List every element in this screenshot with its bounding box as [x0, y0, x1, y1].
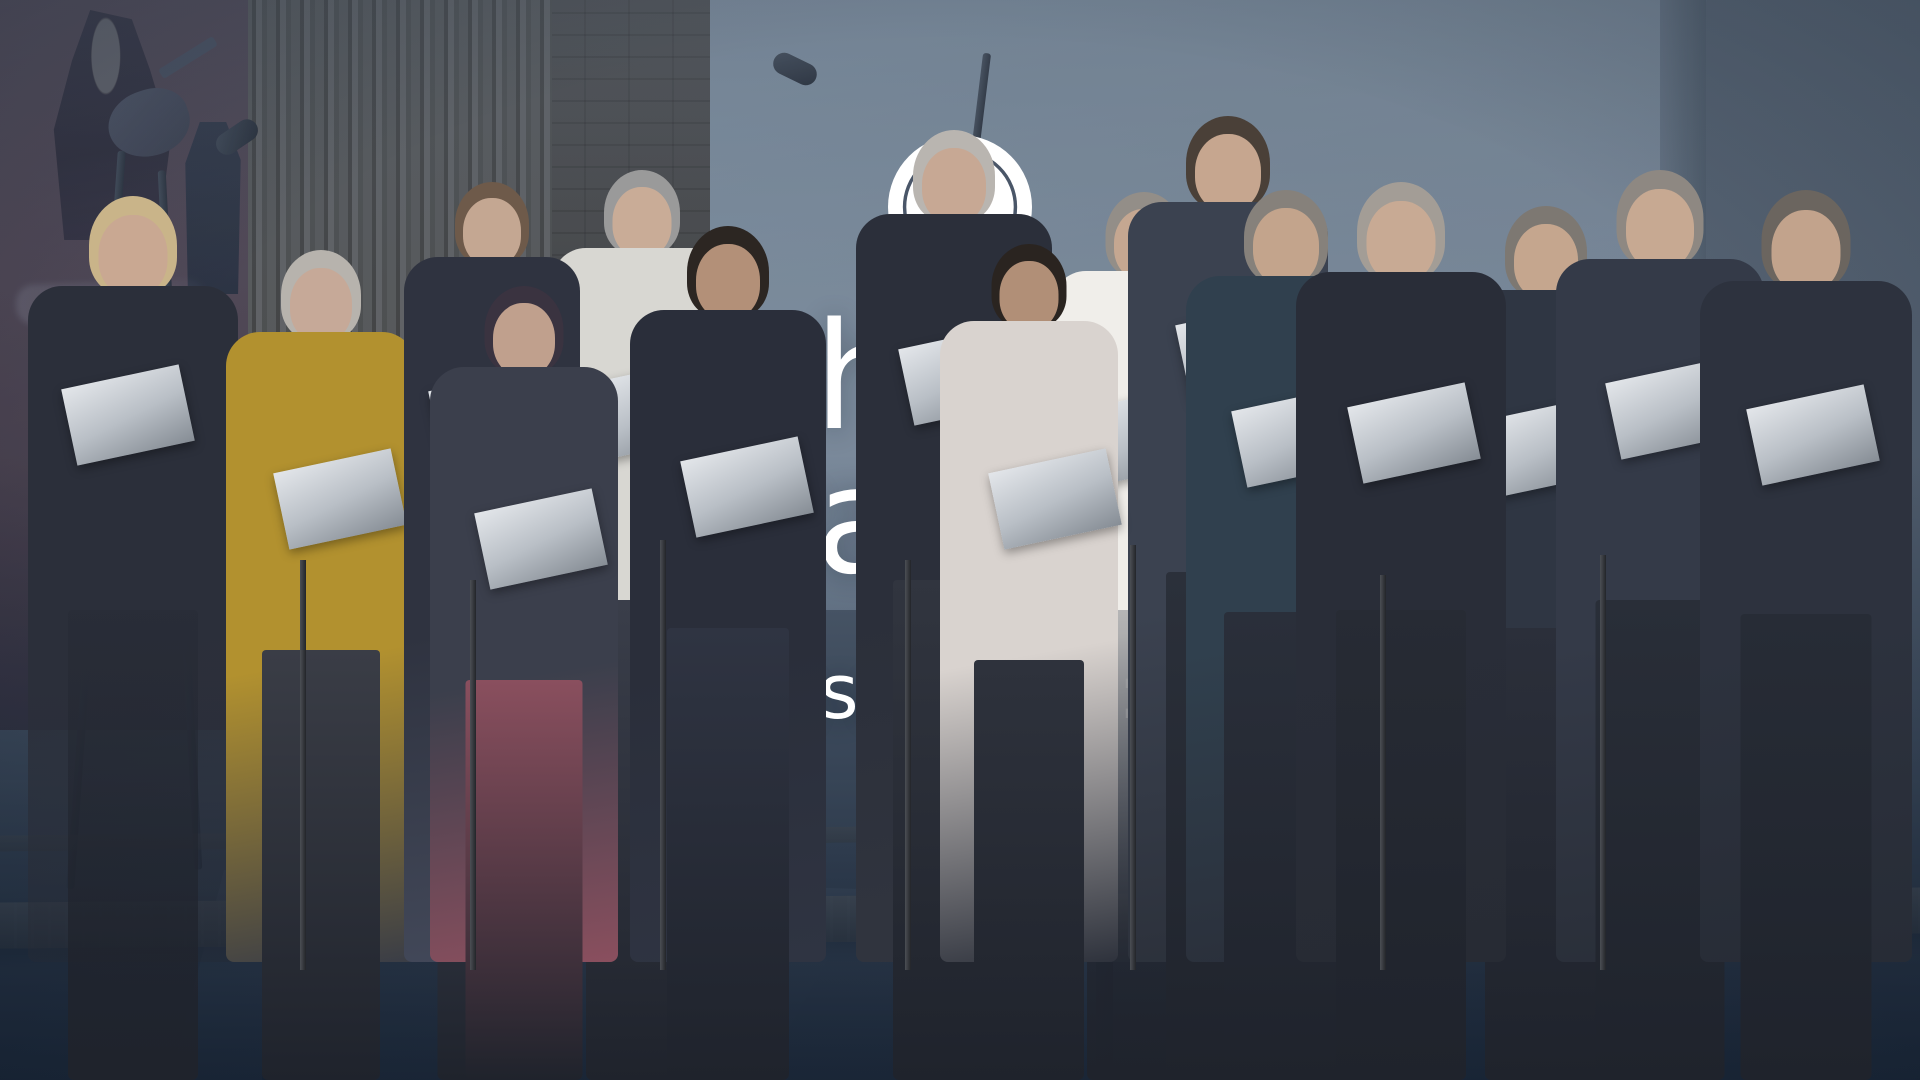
choir-member-legs	[667, 628, 789, 1080]
music-stand	[1380, 575, 1386, 970]
music-stand	[905, 560, 911, 970]
choir-member-head	[99, 215, 168, 296]
choir-member-head	[1367, 201, 1436, 282]
choir-member	[430, 286, 618, 962]
choir-member-legs	[1336, 610, 1466, 1080]
music-stand	[470, 580, 476, 970]
music-stand	[660, 540, 666, 970]
choir-member-legs	[262, 650, 380, 1080]
music-stand	[1600, 555, 1606, 970]
choir-member-legs	[1741, 614, 1872, 1080]
choir-member-head	[493, 303, 555, 376]
choir-member-head	[463, 198, 521, 266]
choir-member-head	[1626, 189, 1694, 269]
choir-member	[940, 244, 1118, 962]
choir-member	[1296, 182, 1506, 962]
choir-member-head	[922, 148, 986, 223]
music-stand	[1130, 545, 1136, 970]
choir-member-legs	[974, 660, 1084, 1080]
choir-member-head	[696, 244, 760, 319]
choir-member-head	[1000, 261, 1059, 330]
choir-member	[226, 250, 416, 962]
choir-member	[28, 196, 238, 962]
choir-member-head	[290, 268, 352, 342]
choir-member	[1700, 190, 1912, 962]
music-stand	[300, 560, 306, 970]
choir-member-legs	[68, 610, 198, 1080]
choir-member-head	[1772, 210, 1841, 292]
slide-canvas: Worship Choir Practice Wednesday | 7:00p…	[0, 0, 1920, 1080]
choir-member-legs	[466, 680, 583, 1080]
